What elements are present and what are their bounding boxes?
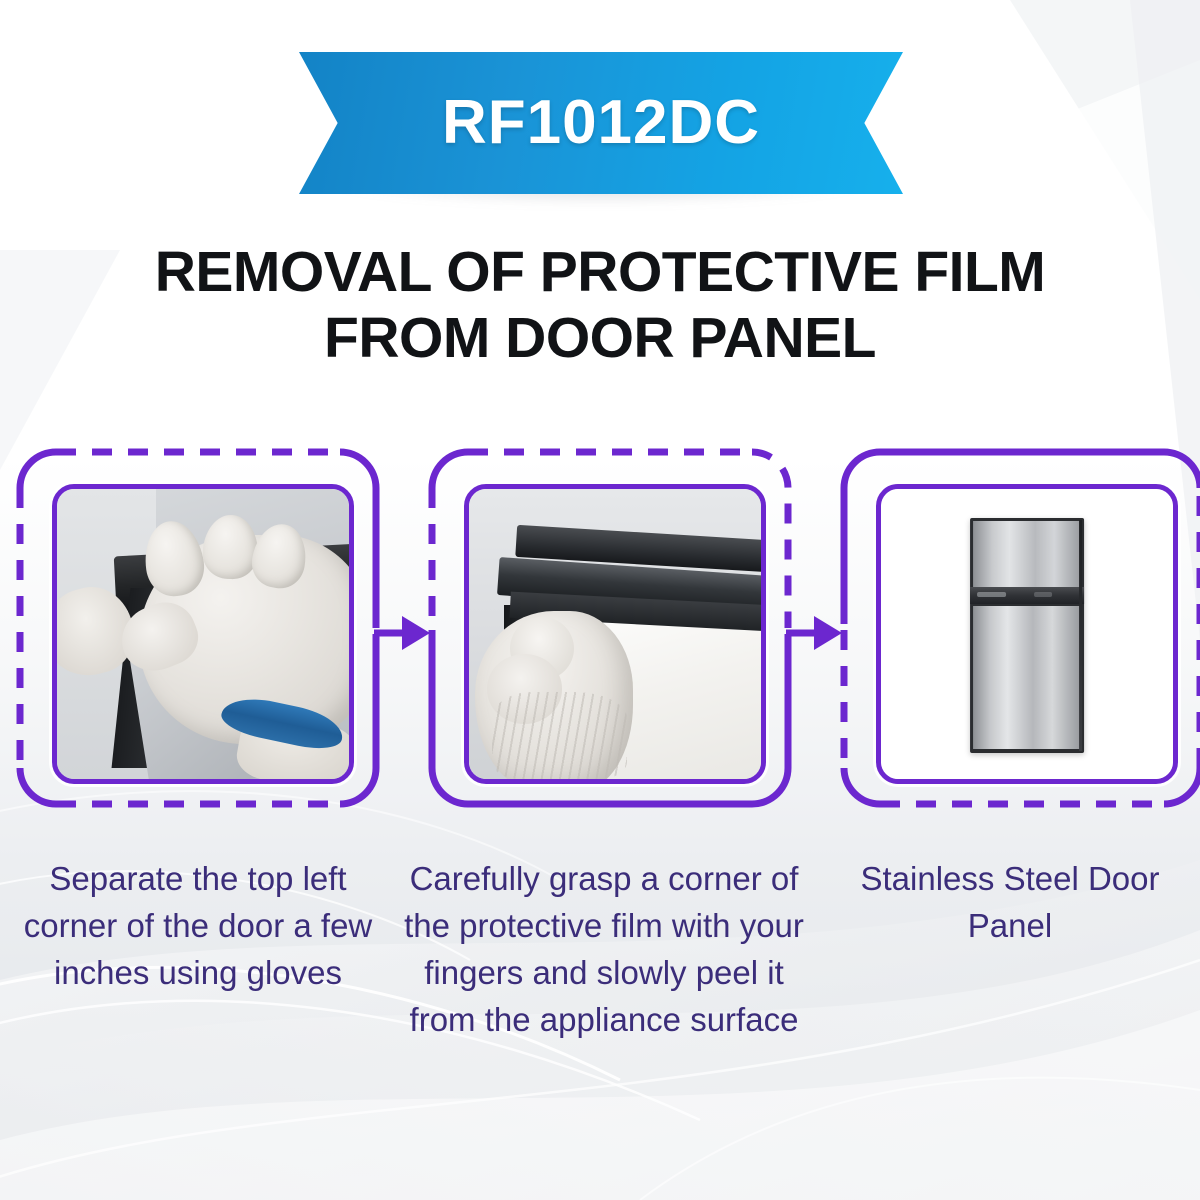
page-title-line-2: FROM DOOR PANEL xyxy=(0,306,1200,372)
step-3-photo xyxy=(881,489,1173,779)
step-1-photo-frame xyxy=(52,484,354,784)
step-2-photo xyxy=(469,489,761,779)
refrigerator-illustration xyxy=(970,518,1084,753)
step-card-1 xyxy=(16,448,380,808)
page-title: REMOVAL OF PROTECTIVE FILM FROM DOOR PAN… xyxy=(0,240,1200,371)
step-3-photo-frame xyxy=(876,484,1178,784)
step-1-caption: Separate the top left corner of the door… xyxy=(8,856,388,997)
model-code-text: RF1012DC xyxy=(442,92,760,154)
step-2-photo-frame xyxy=(464,484,766,784)
banner-ribbon: RF1012DC xyxy=(299,52,903,194)
infographic-page: RF1012DC REMOVAL OF PROTECTIVE FILM FROM… xyxy=(0,0,1200,1200)
step-2-caption: Carefully grasp a corner of the protecti… xyxy=(404,856,804,1043)
model-banner: RF1012DC xyxy=(0,52,1200,202)
step-3-caption: Stainless Steel Door Panel xyxy=(830,856,1190,950)
steps-row xyxy=(0,448,1200,818)
page-title-line-1: REMOVAL OF PROTECTIVE FILM xyxy=(0,240,1200,306)
step-1-photo xyxy=(57,489,349,779)
step-card-3 xyxy=(840,448,1200,808)
step-card-2 xyxy=(428,448,792,808)
